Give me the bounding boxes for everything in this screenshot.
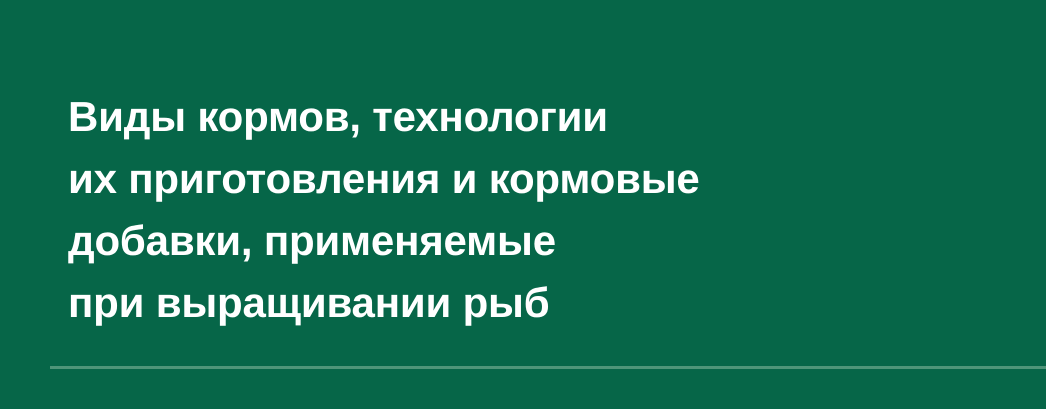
page-title: Виды кормов, технологии их приготовления… — [68, 86, 1008, 334]
title-line-4: при выращивании рыб — [68, 272, 1008, 334]
title-line-3: добавки, применяемые — [68, 210, 1008, 272]
title-slide: Виды кормов, технологии их приготовления… — [0, 0, 1046, 409]
title-line-1: Виды кормов, технологии — [68, 86, 1008, 148]
title-line-2: их приготовления и кормовые — [68, 148, 1008, 210]
horizontal-divider — [50, 366, 1046, 369]
